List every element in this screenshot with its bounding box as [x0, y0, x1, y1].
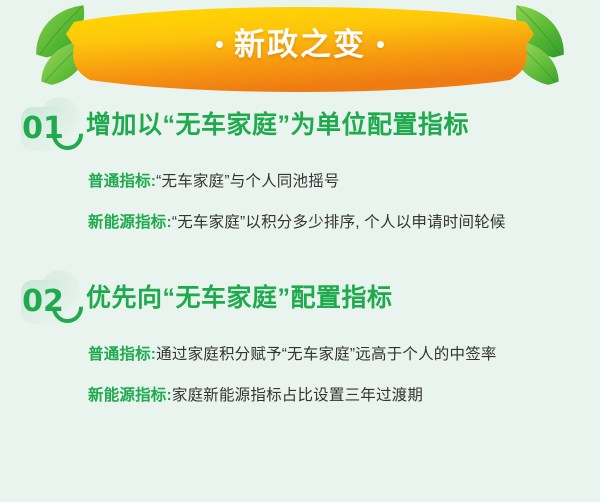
bullet-label: 新能源指标:	[88, 214, 172, 231]
header-banner: 新政之变	[0, 0, 600, 95]
bullet-text: 通过家庭积分赋予“无车家庭”远高于个人的中签率	[156, 346, 496, 363]
section-02-bullets: 普通指标:通过家庭积分赋予“无车家庭”远高于个人的中签率 新能源指标:家庭新能源…	[0, 339, 600, 411]
section-01-number: 01	[16, 107, 70, 151]
bullet-label: 普通指标:	[88, 173, 156, 190]
section-01-number-badge: 01	[16, 95, 82, 157]
bullet-item: 普通指标:通过家庭积分赋予“无车家庭”远高于个人的中签率	[88, 339, 554, 370]
bullet-item: 普通指标:“无车家庭”与个人同池摇号	[88, 166, 554, 197]
section-02: 02 优先向“无车家庭”配置指标 普通指标:通过家庭积分赋予“无车家庭”远高于个…	[0, 268, 600, 411]
bullet-text: “无车家庭”以积分多少排序, 个人以申请时间轮候	[172, 214, 506, 231]
section-02-title: 优先向“无车家庭”配置指标	[86, 285, 393, 313]
bullet-label: 新能源指标:	[88, 387, 172, 404]
section-02-header: 02 优先向“无车家庭”配置指标	[0, 268, 600, 330]
bullet-text: 家庭新能源指标占比设置三年过渡期	[172, 387, 423, 404]
section-01-bullets: 普通指标:“无车家庭”与个人同池摇号 新能源指标:“无车家庭”以积分多少排序, …	[0, 166, 600, 238]
section-01-header: 01 增加以“无车家庭”为单位配置指标	[0, 95, 600, 157]
section-02-number-badge: 02	[16, 268, 82, 330]
bullet-text: “无车家庭”与个人同池摇号	[156, 173, 339, 190]
bullet-label: 普通指标:	[88, 346, 156, 363]
section-01: 01 增加以“无车家庭”为单位配置指标 普通指标:“无车家庭”与个人同池摇号 新…	[0, 95, 600, 238]
section-02-number: 02	[16, 280, 70, 324]
bullet-item: 新能源指标:“无车家庭”以积分多少排序, 个人以申请时间轮候	[88, 207, 554, 238]
section-01-title: 增加以“无车家庭”为单位配置指标	[86, 112, 469, 140]
banner-ribbon	[66, 7, 534, 92]
banner-graphic	[0, 0, 600, 95]
bullet-item: 新能源指标:家庭新能源指标占比设置三年过渡期	[88, 380, 554, 411]
